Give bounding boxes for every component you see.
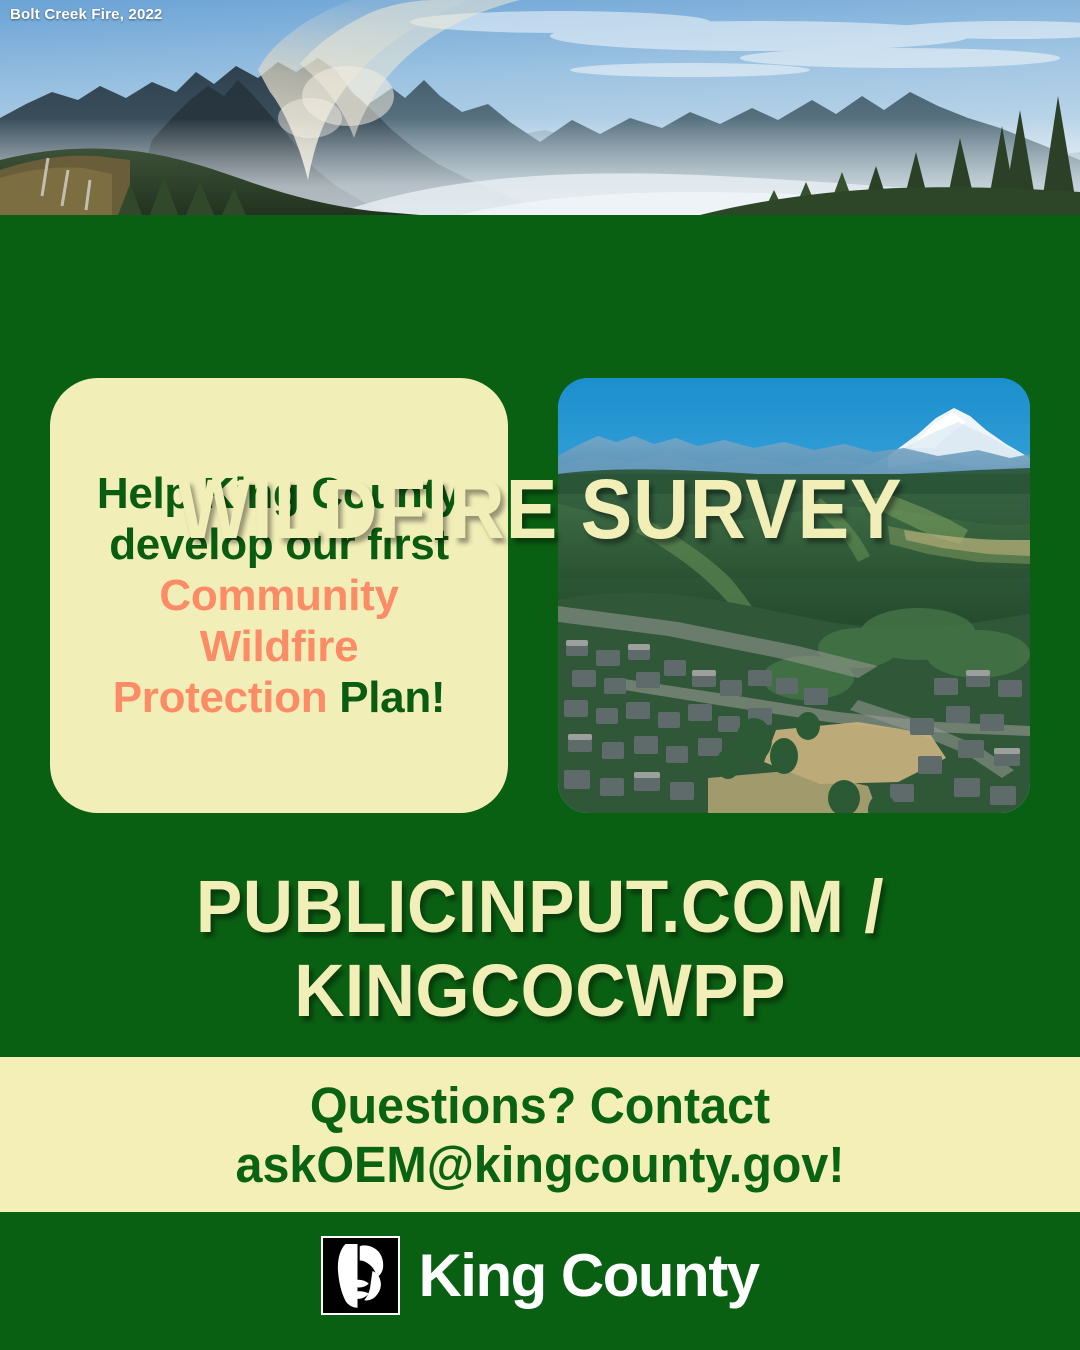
page-title: WILDFIRE SURVEY bbox=[43, 467, 1037, 551]
callout-line-5: Protection Plan! bbox=[72, 672, 486, 723]
poster-root: Bolt Creek Fire, 2022 WILDFIRE SURVEY He… bbox=[0, 0, 1080, 1350]
survey-url-line-2: KINGCOCWPP bbox=[32, 949, 1047, 1033]
banner-illustration bbox=[0, 0, 1080, 215]
contact-line-1: Questions? Contact bbox=[27, 1076, 1053, 1135]
content-row: Help King County develop our first Commu… bbox=[0, 378, 1080, 813]
footer: King County bbox=[0, 1212, 1080, 1350]
king-county-logo: King County bbox=[321, 1236, 758, 1315]
aerial-neighborhood-photo bbox=[558, 378, 1030, 813]
callout-card: Help King County develop our first Commu… bbox=[50, 378, 508, 813]
aerial-illustration bbox=[558, 378, 1030, 813]
callout-line-3: Community bbox=[72, 570, 486, 621]
mlk-portrait-icon bbox=[321, 1236, 400, 1315]
contact-band: Questions? Contact askOEM@kingcounty.gov… bbox=[0, 1057, 1080, 1212]
contact-email[interactable]: askOEM@kingcounty.gov! bbox=[27, 1135, 1053, 1194]
callout-plan-text: Plan! bbox=[327, 673, 445, 722]
king-county-wordmark: King County bbox=[418, 1245, 758, 1307]
banner-photo-wildfire: Bolt Creek Fire, 2022 bbox=[0, 0, 1080, 215]
banner-caption: Bolt Creek Fire, 2022 bbox=[10, 6, 163, 23]
survey-url[interactable]: PUBLICINPUT.COM / KINGCOCWPP bbox=[32, 865, 1047, 1033]
callout-highlight-protection: Protection bbox=[113, 673, 328, 722]
mlk-portrait-svg bbox=[323, 1238, 398, 1313]
survey-url-line-1: PUBLICINPUT.COM / bbox=[32, 865, 1047, 949]
main-green-panel: WILDFIRE SURVEY Help King County develop… bbox=[0, 215, 1080, 1057]
callout-line-4: Wildfire bbox=[72, 621, 486, 672]
